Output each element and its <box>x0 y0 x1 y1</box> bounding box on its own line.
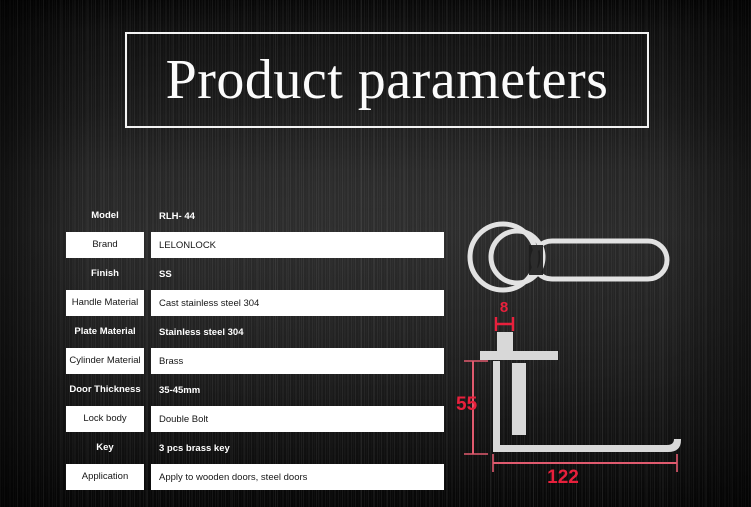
length-dimension-group: 122 <box>493 454 677 485</box>
dimension-label-8: 8 <box>500 299 508 316</box>
spec-value: Double Bolt <box>151 406 444 432</box>
table-row: BrandLELONLOCK <box>66 232 444 258</box>
spec-value: SS <box>151 261 444 287</box>
table-row: ApplicationApply to wooden doors, steel … <box>66 464 444 490</box>
table-row: Handle MaterialCast stainless steel 304 <box>66 290 444 316</box>
spindle-shaft <box>497 332 513 354</box>
spec-value: 3 pcs brass key <box>151 435 444 461</box>
spec-label: Handle Material <box>66 290 144 316</box>
spec-label: Application <box>66 464 144 490</box>
dimension-label-122: 122 <box>547 467 579 485</box>
product-drawing: 8 <box>455 195 735 485</box>
page-title: Product parameters <box>166 52 609 108</box>
spec-value: 35-45mm <box>151 377 444 403</box>
table-row: Plate MaterialStainless steel 304 <box>66 319 444 345</box>
spec-value: RLH- 44 <box>151 203 444 229</box>
rose-plate-side <box>480 351 558 360</box>
side-view-drawing <box>480 351 681 452</box>
dimension-label-55: 55 <box>456 394 478 415</box>
spec-value: LELONLOCK <box>151 232 444 258</box>
table-row: Door Thickness35-45mm <box>66 377 444 403</box>
lever-arm-topview <box>533 241 667 279</box>
spindle-dimension-group: 8 <box>496 299 513 354</box>
lever-neck-inner <box>512 363 526 435</box>
spec-label: Door Thickness <box>66 377 144 403</box>
table-row: ModelRLH- 44 <box>66 203 444 229</box>
spec-value: Cast stainless steel 304 <box>151 290 444 316</box>
spec-label: Finish <box>66 261 144 287</box>
top-view-drawing <box>470 224 667 290</box>
table-row: Cylinder MaterialBrass <box>66 348 444 374</box>
spec-label: Plate Material <box>66 319 144 345</box>
spec-label: Model <box>66 203 144 229</box>
lever-collar-joint <box>529 245 543 275</box>
spec-label: Lock body <box>66 406 144 432</box>
title-frame: Product parameters <box>125 32 649 128</box>
table-row: FinishSS <box>66 261 444 287</box>
spec-value: Brass <box>151 348 444 374</box>
product-parameters-banner: Product parameters ModelRLH- 44BrandLELO… <box>0 0 751 507</box>
height-dimension-group: 55 <box>456 361 488 454</box>
spec-value: Apply to wooden doors, steel doors <box>151 464 444 490</box>
spec-value: Stainless steel 304 <box>151 319 444 345</box>
specification-table: ModelRLH- 44BrandLELONLOCKFinishSSHandle… <box>66 203 444 493</box>
table-row: Key3 pcs brass key <box>66 435 444 461</box>
spec-label: Key <box>66 435 144 461</box>
spec-label: Brand <box>66 232 144 258</box>
spec-label: Cylinder Material <box>66 348 144 374</box>
table-row: Lock bodyDouble Bolt <box>66 406 444 432</box>
